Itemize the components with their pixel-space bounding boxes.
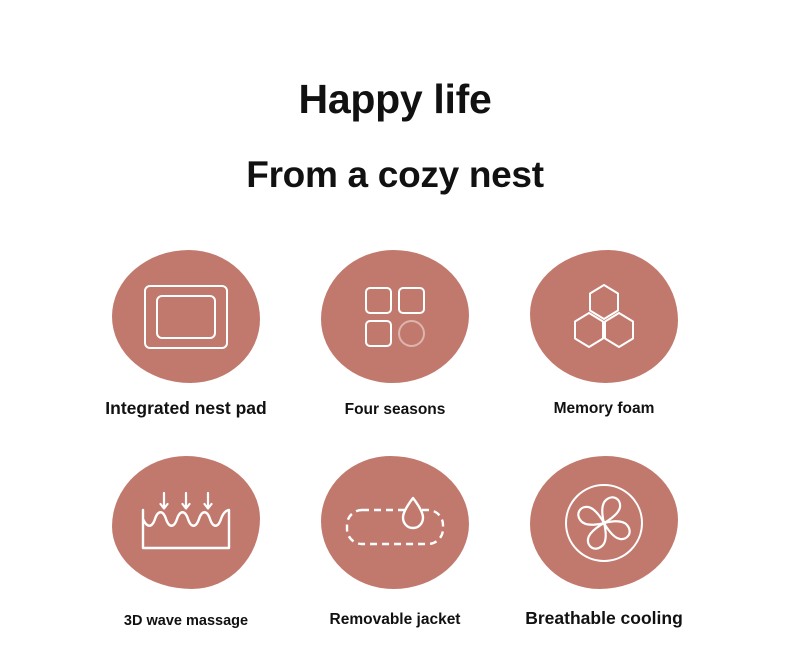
feature-label: Breathable cooling	[525, 609, 683, 628]
dashed-box-droplet-icon	[345, 494, 445, 552]
feature-item-wave-massage: 3D wave massage	[86, 456, 286, 630]
feature-grid: Integrated nest pad Four seasons	[0, 250, 790, 630]
feature-icon-badge	[321, 250, 469, 383]
headings-block: Happy life From a cozy nest	[0, 78, 790, 195]
promo-page: Happy life From a cozy nest Integrated n…	[0, 0, 790, 653]
feature-item-nest-pad: Integrated nest pad	[86, 250, 286, 418]
honeycomb-hexagons-icon	[569, 282, 639, 352]
feature-icon-badge	[112, 250, 260, 383]
feature-icon-badge	[321, 456, 469, 589]
feature-row-top: Integrated nest pad Four seasons	[0, 250, 790, 418]
feature-row-bottom: 3D wave massage Removable jacket	[0, 456, 790, 630]
feature-item-four-seasons: Four seasons	[295, 250, 495, 418]
feature-icon-badge	[530, 250, 678, 383]
feature-icon-badge	[112, 456, 260, 589]
four-squares-icon	[364, 286, 426, 348]
feature-label: 3D wave massage	[124, 614, 248, 630]
feature-label: Removable jacket	[330, 611, 461, 628]
feature-label: Integrated nest pad	[105, 399, 266, 418]
feature-item-removable-jacket: Removable jacket	[295, 456, 495, 628]
page-title: Happy life	[0, 78, 790, 121]
feature-label: Four seasons	[345, 401, 446, 418]
wave-arrows-icon	[140, 492, 232, 554]
page-subtitle: From a cozy nest	[0, 121, 790, 195]
fan-circle-icon	[563, 482, 645, 564]
feature-icon-badge	[530, 456, 678, 589]
feature-item-breathable-cooling: Breathable cooling	[504, 456, 704, 628]
feature-label: Memory foam	[554, 400, 655, 417]
nest-pad-icon	[143, 284, 229, 350]
feature-item-memory-foam: Memory foam	[504, 250, 704, 417]
